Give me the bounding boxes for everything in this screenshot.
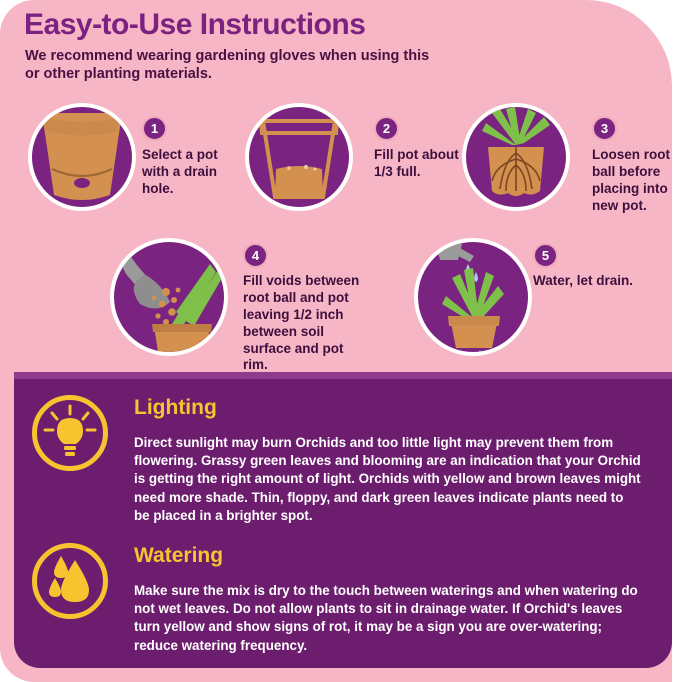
step-3-badge: 3 [592, 116, 617, 141]
step-2-text: Fill pot about 1/3 full. [374, 147, 460, 181]
watering-title: Watering [134, 544, 223, 568]
step-1-badge: 1 [142, 116, 167, 141]
trowel-pouring-soil-icon [114, 242, 224, 352]
plant-root-ball-icon [466, 107, 566, 207]
step-5-illustration [414, 238, 532, 356]
water-droplets-icon [37, 548, 103, 614]
lighting-body: Direct sunlight may burn Orchids and too… [134, 434, 642, 525]
step-4-badge: 4 [243, 243, 268, 268]
step-5-badge: 5 [533, 243, 558, 268]
watering-body: Make sure the mix is dry to the touch be… [134, 582, 642, 655]
lightbulb-icon [37, 400, 103, 466]
step-2-badge: 2 [374, 116, 399, 141]
watering-can-over-potted-plant-icon [418, 242, 528, 352]
step-1-text: Select a pot with a drain hole. [142, 147, 234, 198]
step-5-text: Water, let drain. [533, 273, 659, 290]
lighting-title: Lighting [134, 396, 217, 420]
step-3-text: Loosen root ball before placing into new… [592, 147, 672, 215]
page-title: Easy-to-Use Instructions [24, 8, 504, 42]
lighting-icon-ring [32, 395, 108, 471]
step-4-text: Fill voids between root ball and pot lea… [243, 273, 371, 374]
pot-one-third-filled-with-soil-icon [249, 107, 349, 207]
page-subtitle: We recommend wearing gardening gloves wh… [25, 48, 445, 83]
terracotta-pot-with-drain-hole-icon [32, 107, 132, 207]
step-3-illustration [462, 103, 570, 211]
step-2-illustration [245, 103, 353, 211]
watering-icon-ring [32, 543, 108, 619]
panel-top-highlight [14, 372, 672, 379]
step-1-illustration [28, 103, 136, 211]
step-4-illustration [110, 238, 228, 356]
